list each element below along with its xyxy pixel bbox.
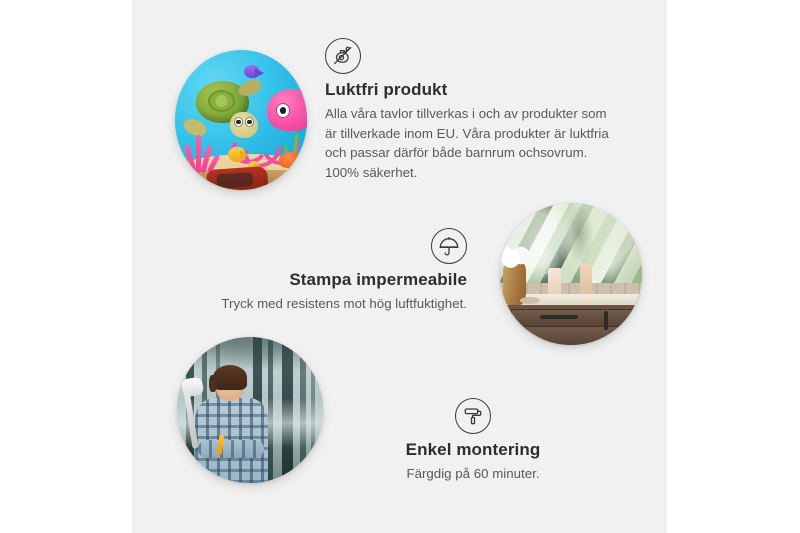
forest-scene xyxy=(177,337,323,483)
product-image-bathroom[interactable] xyxy=(500,203,642,345)
fish-icon xyxy=(228,147,245,162)
feature-description: Alla våra tavlor tillverkas i och av pro… xyxy=(325,104,620,182)
flowers-icon xyxy=(500,246,531,272)
painter-person xyxy=(192,369,274,483)
feature-title: Enkel montering xyxy=(328,440,618,460)
umbrella-icon xyxy=(431,228,467,264)
turtle-eye xyxy=(245,117,254,127)
feature-description: Färgdig på 60 minuter. xyxy=(328,464,618,484)
no-fragrance-icon xyxy=(325,38,361,74)
feature-easy-mounting: Enkel montering Färgdig på 60 minuter. xyxy=(328,398,618,484)
feature-title: Luktfri produkt xyxy=(325,80,620,100)
vanity-cabinet xyxy=(506,305,642,345)
octopus-eye xyxy=(276,103,290,117)
soap-dish-icon xyxy=(520,297,540,304)
octopus-icon xyxy=(267,89,307,131)
feature-title: Stampa impermeabile xyxy=(192,270,467,290)
feature-description: Tryck med resistens mot hög luftfuktighe… xyxy=(192,294,467,314)
turtle-eye xyxy=(234,117,243,127)
feature-waterproof-print: Stampa impermeabile Tryck med resistens … xyxy=(192,228,467,314)
bathroom-scene xyxy=(500,203,642,345)
vanity-drawer xyxy=(511,326,642,345)
product-image-painter-forest[interactable] xyxy=(177,337,323,483)
feature-odour-free: Luktfri produkt Alla våra tavlor tillver… xyxy=(325,38,620,182)
underwater-scene xyxy=(175,50,307,190)
coral-icon xyxy=(183,131,223,173)
drawer-handle xyxy=(540,315,578,319)
fish-icon xyxy=(244,65,260,78)
feature-panel: Luktfri produkt Alla våra tavlor tillver… xyxy=(132,0,667,533)
product-image-underwater[interactable] xyxy=(175,50,307,190)
crab-icon xyxy=(279,152,301,167)
person-arms xyxy=(198,440,263,458)
person-hair xyxy=(213,365,247,390)
screenshot-stage: Luktfri produkt Alla våra tavlor tillver… xyxy=(0,0,800,533)
paint-roller-icon xyxy=(455,398,491,434)
drawer-handle xyxy=(604,311,608,330)
shipwreck-icon xyxy=(206,166,269,190)
